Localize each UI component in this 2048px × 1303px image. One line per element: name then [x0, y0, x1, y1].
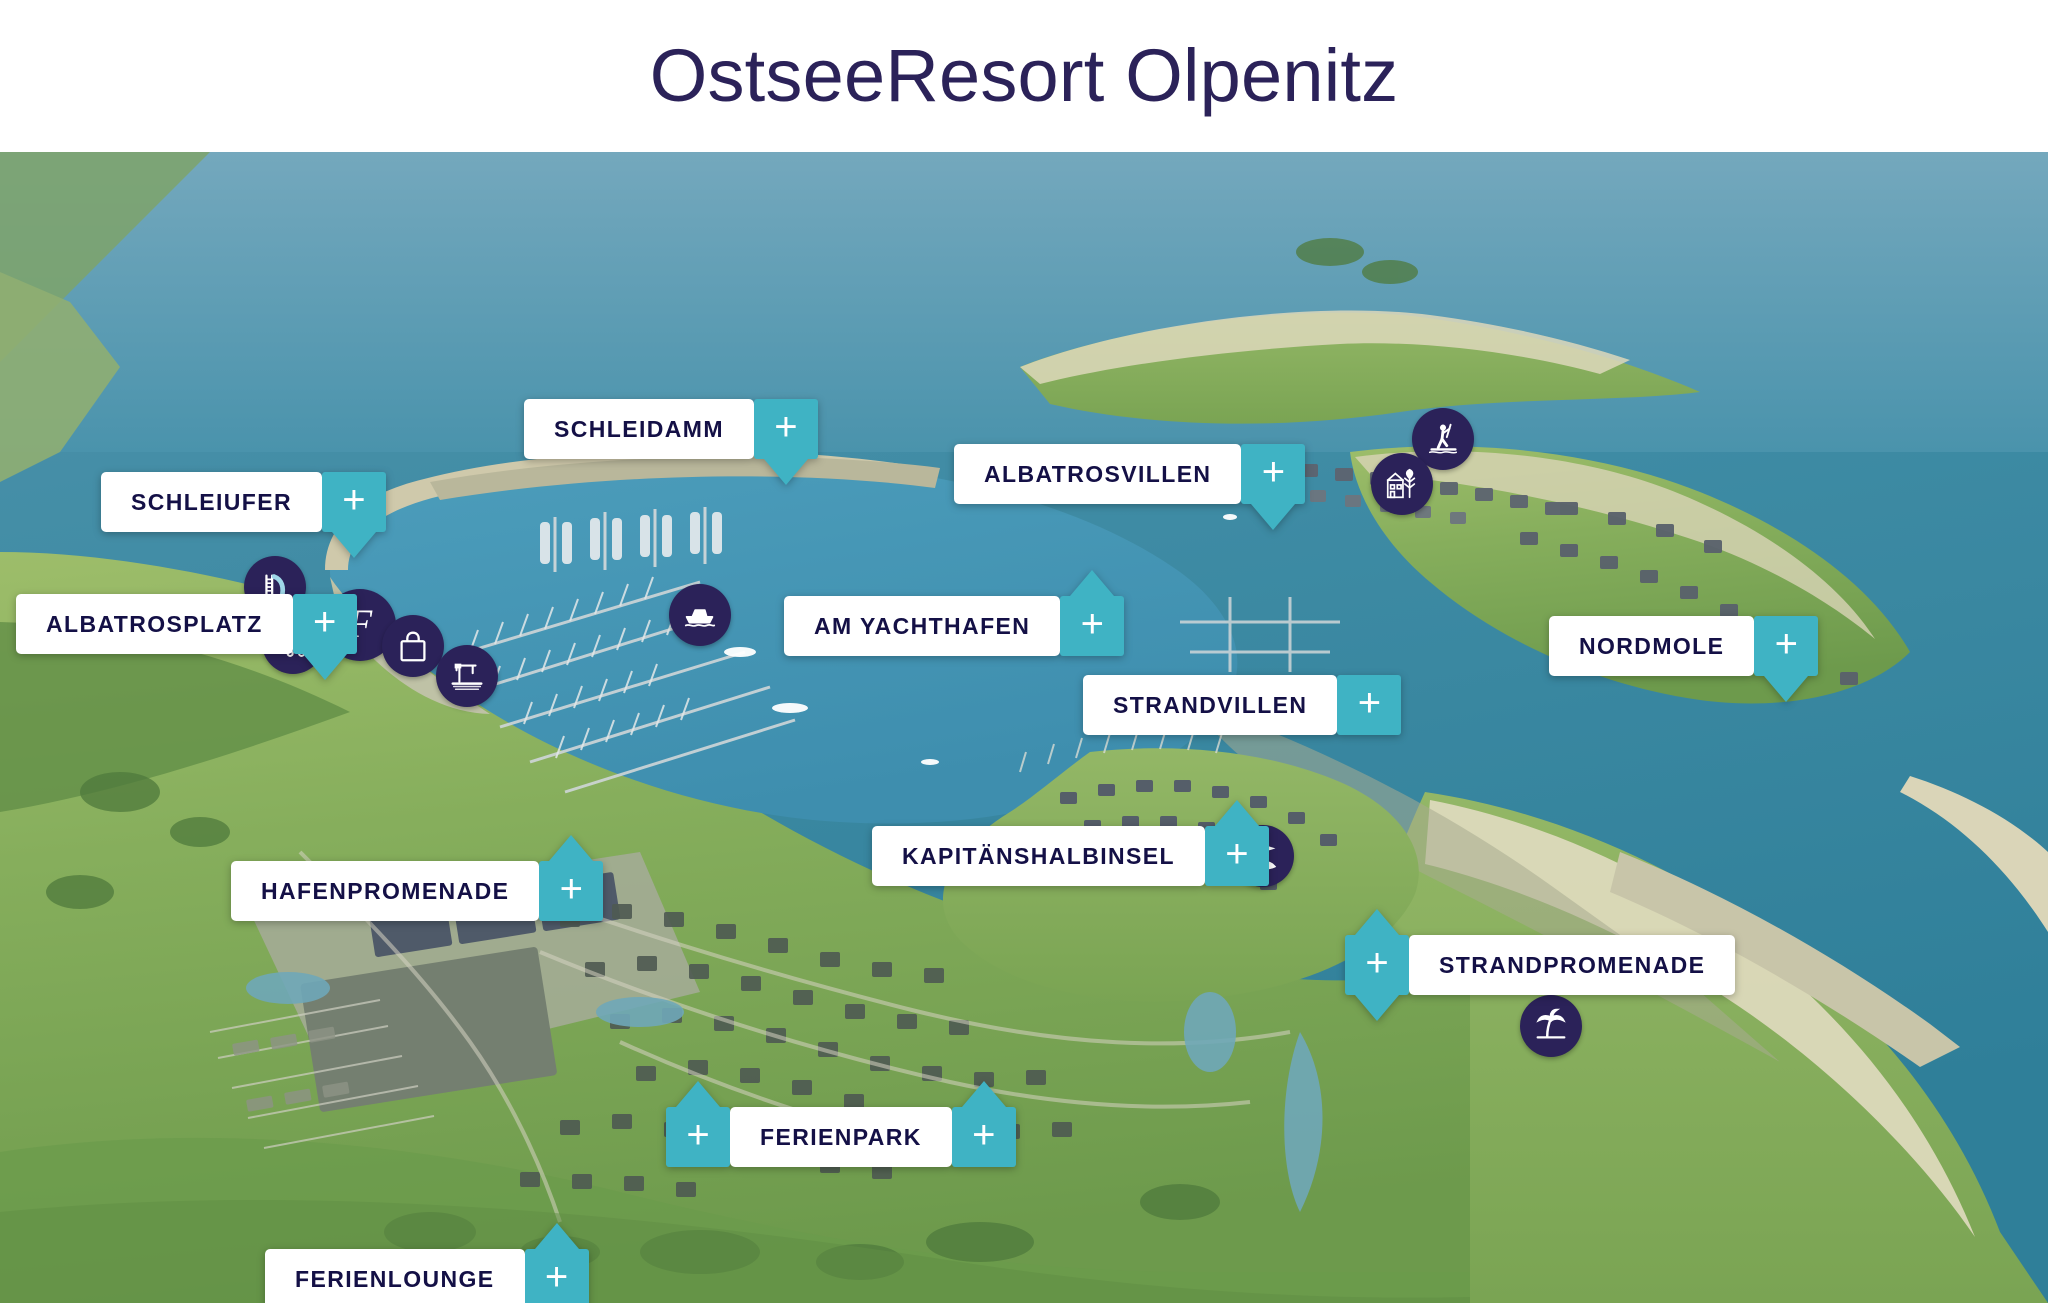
hotspot-plus-button[interactable]: +: [322, 472, 386, 532]
poi-harbour-crane[interactable]: [436, 645, 498, 707]
hotspot-plus-button[interactable]: +: [754, 399, 818, 459]
plus-icon: +: [545, 1257, 568, 1297]
plus-icon: +: [1225, 834, 1248, 874]
hotspot-label: ALBATROSVILLEN: [984, 463, 1211, 486]
hotspot-label: NORDMOLE: [1579, 635, 1724, 658]
resort-map-page: OstseeResort Olpenitz: [0, 0, 2048, 1303]
hotspot-label: HAFENPROMENADE: [261, 880, 509, 903]
hotspot-pill: KAPITÄNSHALBINSEL: [872, 826, 1205, 886]
hotspot-nordmole[interactable]: NORDMOLE +: [1549, 616, 1818, 676]
beach-palm-icon: [1532, 1007, 1570, 1045]
hotspot-plus-button[interactable]: +: [539, 861, 603, 921]
hotspot-pill: STRANDPROMENADE: [1409, 935, 1735, 995]
poi-motorboat[interactable]: [669, 584, 731, 646]
hotspot-plus-button[interactable]: +: [1205, 826, 1269, 886]
plus-icon: +: [972, 1115, 995, 1155]
hotspot-plus-button[interactable]: +: [1754, 616, 1818, 676]
poi-shopping-bag[interactable]: [382, 615, 444, 677]
hotspot-strandpromenade[interactable]: + STRANDPROMENADE: [1345, 935, 1735, 995]
resort-map[interactable]: F: [0, 152, 2048, 1303]
hotspot-plus-button[interactable]: +: [1337, 675, 1401, 735]
hotspot-pill: ALBATROSVILLEN: [954, 444, 1241, 504]
plus-icon: +: [686, 1115, 709, 1155]
hotspot-label: STRANDVILLEN: [1113, 694, 1307, 717]
map-aerial-image: [0, 152, 2048, 1303]
hotspot-pill: FERIENPARK: [730, 1107, 952, 1167]
hotspot-label: STRANDPROMENADE: [1439, 954, 1705, 977]
hotspot-ferienlounge[interactable]: FERIENLOUNGE +: [265, 1249, 589, 1303]
plus-icon: +: [1358, 683, 1381, 723]
hotspot-label: AM YACHTHAFEN: [814, 615, 1030, 638]
hotspot-albatrosvillen[interactable]: ALBATROSVILLEN +: [954, 444, 1305, 504]
plus-icon: +: [560, 869, 583, 909]
hotspot-plus-button[interactable]: +: [1345, 935, 1409, 995]
hotspot-pill: SCHLEIDAMM: [524, 399, 754, 459]
hotspot-plus-button[interactable]: +: [1060, 596, 1124, 656]
hotspot-label: FERIENLOUNGE: [295, 1268, 495, 1291]
hotspot-plus-button[interactable]: +: [525, 1249, 589, 1303]
hotspot-pill: STRANDVILLEN: [1083, 675, 1337, 735]
hotspot-am-yachthafen[interactable]: AM YACHTHAFEN +: [784, 596, 1124, 656]
harbour-crane-icon: [448, 657, 486, 695]
hotspot-pill: AM YACHTHAFEN: [784, 596, 1060, 656]
hotspot-ferienpark[interactable]: + FERIENPARK +: [666, 1107, 1016, 1167]
poi-beach[interactable]: [1520, 995, 1582, 1057]
stand-up-paddle-icon: [1424, 420, 1462, 458]
plus-icon: +: [342, 480, 365, 520]
hotspot-label: SCHLEIUFER: [131, 491, 292, 514]
hotspot-pill: SCHLEIUFER: [101, 472, 322, 532]
hotspot-label: KAPITÄNSHALBINSEL: [902, 845, 1175, 868]
hotspot-albatrosplatz[interactable]: ALBATROSPLATZ +: [16, 594, 357, 654]
page-header: OstseeResort Olpenitz: [0, 0, 2048, 152]
plus-icon: +: [1081, 604, 1104, 644]
hotspot-label: ALBATROSPLATZ: [46, 613, 263, 636]
hotspot-kapitaenshalbinsel[interactable]: KAPITÄNSHALBINSEL +: [872, 826, 1269, 886]
hotspot-plus-button-left[interactable]: +: [666, 1107, 730, 1167]
hotspot-pill: ALBATROSPLATZ: [16, 594, 293, 654]
hotspot-schleidamm[interactable]: SCHLEIDAMM +: [524, 399, 818, 459]
hotspot-schleiufer[interactable]: SCHLEIUFER +: [101, 472, 386, 532]
hotspot-label: FERIENPARK: [760, 1126, 922, 1149]
page-title: OstseeResort Olpenitz: [650, 39, 1399, 113]
hotspot-pill: NORDMOLE: [1549, 616, 1754, 676]
plus-icon: +: [1775, 624, 1798, 664]
plus-icon: +: [313, 602, 336, 642]
plus-icon: +: [774, 407, 797, 447]
hotspot-plus-button-right[interactable]: +: [952, 1107, 1016, 1167]
hotspot-plus-button[interactable]: +: [1241, 444, 1305, 504]
plus-icon: +: [1262, 452, 1285, 492]
shopping-bag-icon: [394, 627, 432, 665]
motorboat-icon: [681, 596, 719, 634]
plus-icon: +: [1365, 943, 1388, 983]
hotspot-hafenpromenade[interactable]: HAFENPROMENADE +: [231, 861, 603, 921]
resort-building-icon: [1383, 465, 1421, 503]
hotspot-label: SCHLEIDAMM: [554, 418, 724, 441]
poi-resort-building[interactable]: [1371, 453, 1433, 515]
hotspot-strandvillen[interactable]: STRANDVILLEN +: [1083, 675, 1401, 735]
hotspot-pill: HAFENPROMENADE: [231, 861, 539, 921]
hotspot-plus-button[interactable]: +: [293, 594, 357, 654]
hotspot-pill: FERIENLOUNGE: [265, 1249, 525, 1303]
